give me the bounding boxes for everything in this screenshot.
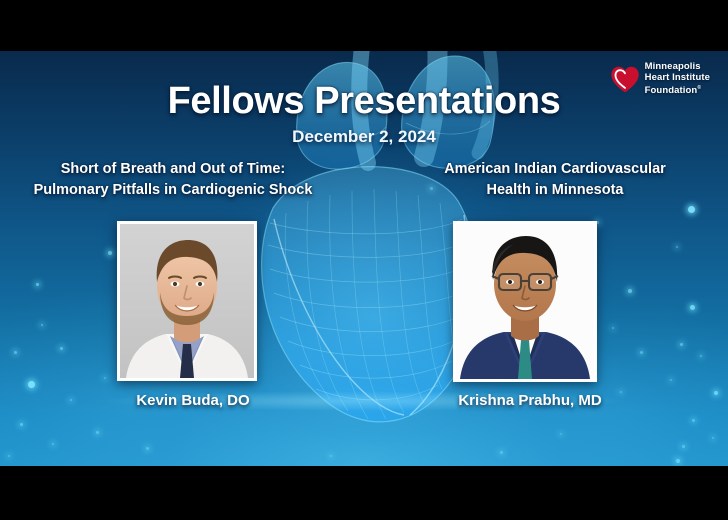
presentation-date: December 2, 2024	[0, 127, 728, 147]
letterbox-bar-bottom	[0, 466, 728, 520]
logo-line-1: Minneapolis	[645, 61, 701, 72]
talk-title-left-line2: Pulmonary Pitfalls in Cardiogenic Shock	[34, 182, 313, 198]
organization-logo: Minneapolis Heart Institute Foundation®	[610, 62, 710, 97]
slide-stage: Fellows Presentations December 2, 2024 M…	[0, 51, 728, 466]
speaker-name-left: Kevin Buda, DO	[28, 392, 358, 409]
presentation-column-right: American Indian Cardiovascular Health in…	[390, 159, 720, 201]
logo-wordmark: Minneapolis Heart Institute Foundation®	[645, 62, 710, 97]
heart-outline-icon	[610, 65, 640, 94]
video-frame: Fellows Presentations December 2, 2024 M…	[0, 0, 728, 520]
speaker-name-right: Krishna Prabhu, MD	[365, 392, 695, 409]
presentation-column-left: Short of Breath and Out of Time: Pulmona…	[8, 159, 338, 201]
talk-title-right: American Indian Cardiovascular Health in…	[405, 159, 705, 201]
headshot-krishna-prabhu	[453, 221, 597, 382]
talk-title-right-line2: Health in Minnesota	[487, 182, 624, 198]
headshot-kevin-buda	[117, 221, 257, 381]
headshot-kevin-buda-image	[120, 224, 254, 378]
talk-title-left: Short of Breath and Out of Time: Pulmona…	[23, 159, 323, 201]
talk-title-right-line1: American Indian Cardiovascular	[444, 161, 666, 177]
logo-trademark: ®	[697, 85, 701, 91]
headshot-krishna-prabhu-image	[456, 224, 594, 379]
logo-line-2: Heart Institute	[645, 72, 710, 83]
logo-line-3: Foundation	[645, 85, 698, 96]
talk-title-left-line1: Short of Breath and Out of Time:	[61, 161, 285, 177]
letterbox-bar-top	[0, 0, 728, 51]
